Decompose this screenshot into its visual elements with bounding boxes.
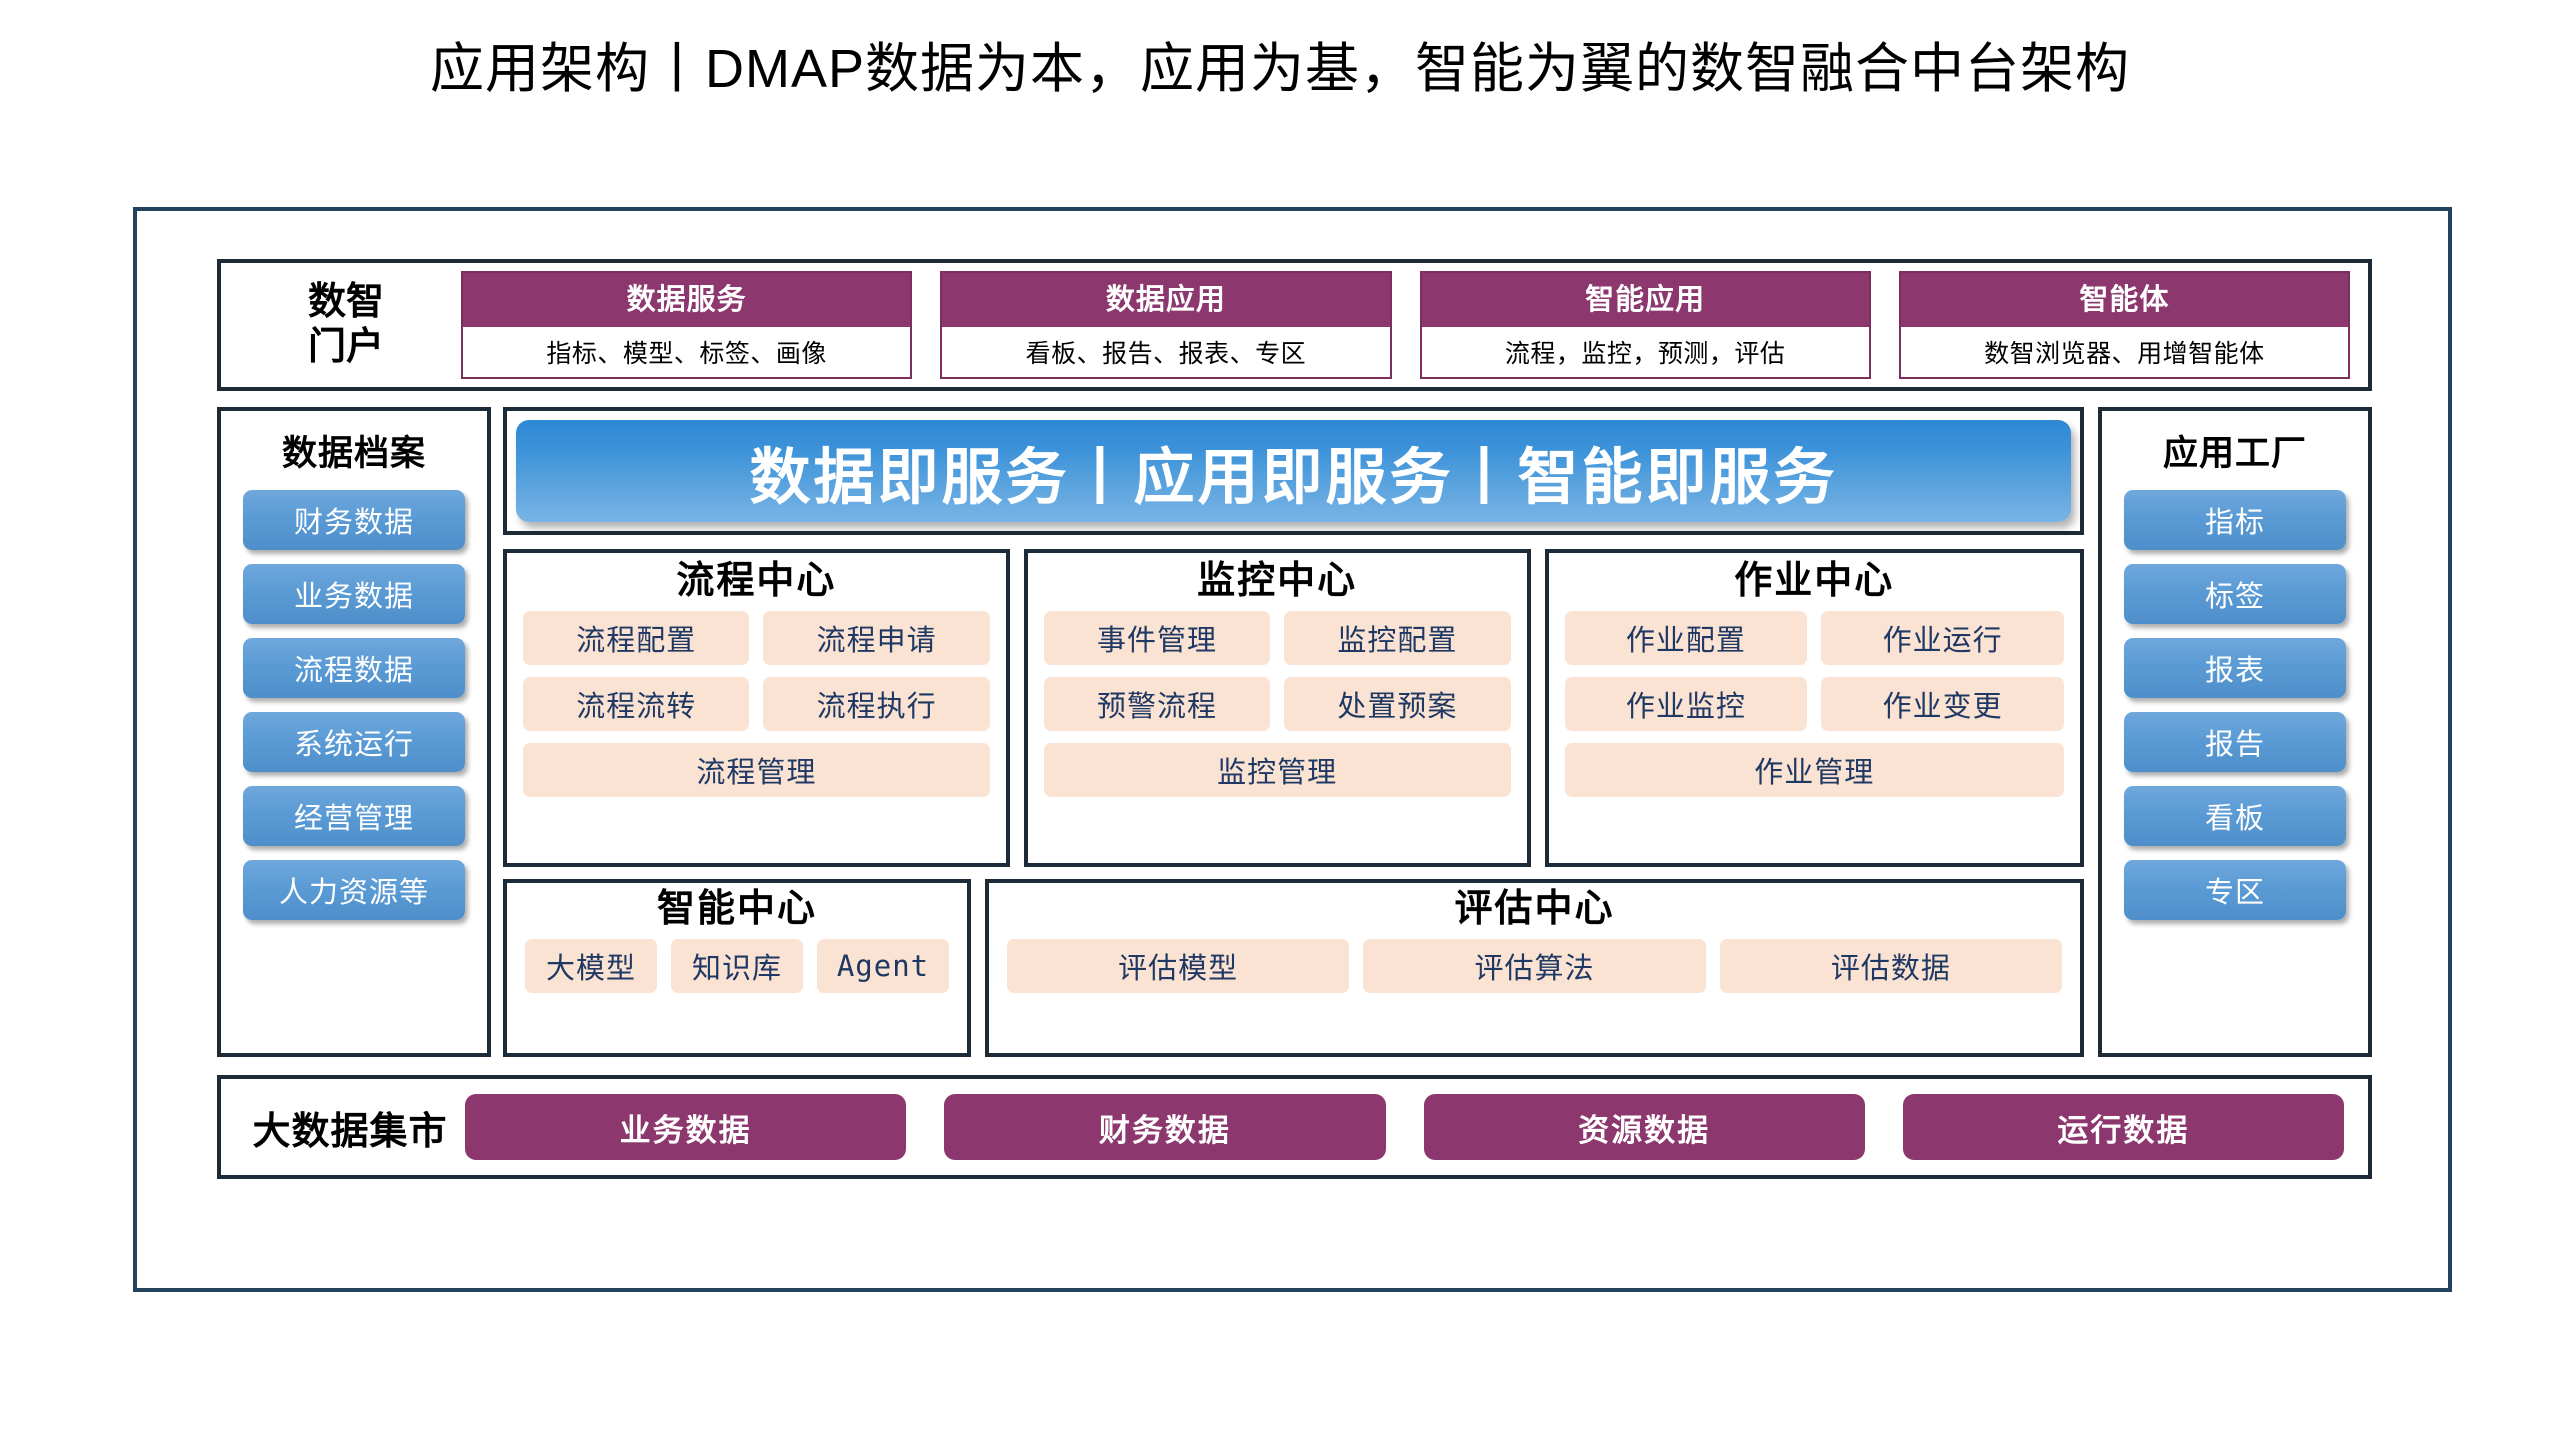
portal-row: 数智 门户 数据服务 指标、模型、标签、画像 数据应用 看板、报告、报表、专区 … — [217, 259, 2372, 391]
data-archive-item-hr[interactable]: 人力资源等 — [243, 860, 465, 920]
data-archive-item-process[interactable]: 流程数据 — [243, 638, 465, 698]
data-mart-label: 大数据集市 — [235, 1100, 465, 1155]
chip-row: 流程配置 流程申请 — [523, 611, 990, 665]
monitor-center-panel: 监控中心 事件管理 监控配置 预警流程 处置预案 监控管理 — [1024, 549, 1531, 867]
service-banner: 数据即服务丨应用即服务丨智能即服务 — [516, 420, 2071, 522]
portal-card-agent[interactable]: 智能体 数智浏览器、用增智能体 — [1899, 271, 2350, 379]
portal-card-title: 数据服务 — [463, 273, 910, 327]
data-mart-item-business[interactable]: 业务数据 — [465, 1094, 906, 1160]
app-factory-item-dashboard[interactable]: 看板 — [2124, 786, 2346, 846]
chip-row: 流程流转 流程执行 — [523, 677, 990, 731]
service-banner-container: 数据即服务丨应用即服务丨智能即服务 — [503, 407, 2084, 535]
portal-card-subtitle: 看板、报告、报表、专区 — [942, 327, 1389, 377]
chip-row: 流程管理 — [523, 743, 990, 797]
chip-job-run[interactable]: 作业运行 — [1821, 611, 2064, 665]
data-archive-item-system[interactable]: 系统运行 — [243, 712, 465, 772]
chip-row: 事件管理 监控配置 — [1044, 611, 1511, 665]
portal-card-subtitle: 数智浏览器、用增智能体 — [1901, 327, 2348, 377]
chip-process-flow[interactable]: 流程流转 — [523, 677, 749, 731]
chip-row: 作业管理 — [1565, 743, 2064, 797]
chip-process-management[interactable]: 流程管理 — [523, 743, 990, 797]
chip-job-management[interactable]: 作业管理 — [1565, 743, 2064, 797]
data-mart-row: 大数据集市 业务数据 财务数据 资源数据 运行数据 — [217, 1075, 2372, 1179]
bottom-panels-row: 智能中心 大模型 知识库 Agent 评估中心 评估模型 评估算法 评估数据 — [503, 879, 2084, 1057]
app-factory-item-zone[interactable]: 专区 — [2124, 860, 2346, 920]
data-mart-item-finance[interactable]: 财务数据 — [944, 1094, 1385, 1160]
app-factory-item-tag[interactable]: 标签 — [2124, 564, 2346, 624]
data-archive-item-business[interactable]: 业务数据 — [243, 564, 465, 624]
portal-card-title: 数据应用 — [942, 273, 1389, 327]
chip-alert-process[interactable]: 预警流程 — [1044, 677, 1270, 731]
portal-card-title: 智能应用 — [1422, 273, 1869, 327]
process-center-title: 流程中心 — [676, 561, 836, 603]
process-center-panel: 流程中心 流程配置 流程申请 流程流转 流程执行 流程管理 — [503, 549, 1010, 867]
evaluation-center-panel: 评估中心 评估模型 评估算法 评估数据 — [985, 879, 2084, 1057]
chip-eval-model[interactable]: 评估模型 — [1007, 939, 1349, 993]
chip-job-change[interactable]: 作业变更 — [1821, 677, 2064, 731]
monitor-center-items: 事件管理 监控配置 预警流程 处置预案 监控管理 — [1044, 611, 1511, 797]
architecture-diagram-frame: 数智 门户 数据服务 指标、模型、标签、画像 数据应用 看板、报告、报表、专区 … — [133, 207, 2452, 1292]
app-factory-item-indicator[interactable]: 指标 — [2124, 490, 2346, 550]
app-factory-title: 应用工厂 — [2102, 425, 2368, 476]
chip-response-plan[interactable]: 处置预案 — [1284, 677, 1510, 731]
chip-row: 作业配置 作业运行 — [1565, 611, 2064, 665]
chip-agent[interactable]: Agent — [817, 939, 949, 993]
portal-row-label: 数智 门户 — [231, 280, 461, 370]
portal-card-subtitle: 流程，监控，预测，评估 — [1422, 327, 1869, 377]
chip-eval-data[interactable]: 评估数据 — [1720, 939, 2062, 993]
app-factory-panel: 应用工厂 指标 标签 报表 报告 看板 专区 — [2098, 407, 2372, 1057]
page-title: 应用架构丨DMAP数据为本，应用为基，智能为翼的数智融合中台架构 — [0, 40, 2560, 99]
data-archive-list: 财务数据 业务数据 流程数据 系统运行 经营管理 人力资源等 — [221, 490, 487, 920]
data-archive-panel: 数据档案 财务数据 业务数据 流程数据 系统运行 经营管理 人力资源等 — [217, 407, 491, 1057]
chip-job-config[interactable]: 作业配置 — [1565, 611, 1808, 665]
process-center-items: 流程配置 流程申请 流程流转 流程执行 流程管理 — [523, 611, 990, 797]
chip-knowledge-base[interactable]: 知识库 — [671, 939, 803, 993]
evaluation-center-title: 评估中心 — [1454, 889, 1614, 931]
chip-monitor-management[interactable]: 监控管理 — [1044, 743, 1511, 797]
chip-monitor-config[interactable]: 监控配置 — [1284, 611, 1510, 665]
portal-card-intelligent-application[interactable]: 智能应用 流程，监控，预测，评估 — [1420, 271, 1871, 379]
chip-process-config[interactable]: 流程配置 — [523, 611, 749, 665]
ai-center-panel: 智能中心 大模型 知识库 Agent — [503, 879, 971, 1057]
evaluation-center-items: 评估模型 评估算法 评估数据 — [1007, 939, 2062, 993]
portal-card-title: 智能体 — [1901, 273, 2348, 327]
data-mart-list: 业务数据 财务数据 资源数据 运行数据 — [465, 1094, 2354, 1160]
chip-row: 监控管理 — [1044, 743, 1511, 797]
ai-center-items: 大模型 知识库 Agent — [525, 939, 949, 993]
app-factory-list: 指标 标签 报表 报告 看板 专区 — [2102, 490, 2368, 920]
portal-card-data-application[interactable]: 数据应用 看板、报告、报表、专区 — [940, 271, 1391, 379]
portal-card-subtitle: 指标、模型、标签、画像 — [463, 327, 910, 377]
data-archive-item-finance[interactable]: 财务数据 — [243, 490, 465, 550]
chip-process-execute[interactable]: 流程执行 — [763, 677, 989, 731]
data-mart-item-runtime[interactable]: 运行数据 — [1903, 1094, 2344, 1160]
job-center-items: 作业配置 作业运行 作业监控 作业变更 作业管理 — [1565, 611, 2064, 797]
data-archive-title: 数据档案 — [221, 425, 487, 476]
ai-center-title: 智能中心 — [657, 889, 817, 931]
data-mart-item-resource[interactable]: 资源数据 — [1424, 1094, 1865, 1160]
chip-event-management[interactable]: 事件管理 — [1044, 611, 1270, 665]
portal-label-line2: 门户 — [231, 325, 461, 370]
chip-eval-algorithm[interactable]: 评估算法 — [1363, 939, 1705, 993]
center-panels-row: 流程中心 流程配置 流程申请 流程流转 流程执行 流程管理 — [503, 549, 2084, 867]
chip-job-monitor[interactable]: 作业监控 — [1565, 677, 1808, 731]
app-factory-item-report[interactable]: 报告 — [2124, 712, 2346, 772]
portal-card-list: 数据服务 指标、模型、标签、画像 数据应用 看板、报告、报表、专区 智能应用 流… — [461, 271, 2358, 379]
chip-row: 作业监控 作业变更 — [1565, 677, 2064, 731]
data-archive-item-operations[interactable]: 经营管理 — [243, 786, 465, 846]
chip-large-model[interactable]: 大模型 — [525, 939, 657, 993]
job-center-title: 作业中心 — [1734, 561, 1894, 603]
portal-card-data-service[interactable]: 数据服务 指标、模型、标签、画像 — [461, 271, 912, 379]
chip-process-request[interactable]: 流程申请 — [763, 611, 989, 665]
center-column: 数据即服务丨应用即服务丨智能即服务 流程中心 流程配置 流程申请 流程流转 流程… — [503, 407, 2084, 1057]
job-center-panel: 作业中心 作业配置 作业运行 作业监控 作业变更 作业管理 — [1545, 549, 2084, 867]
portal-label-line1: 数智 — [231, 280, 461, 325]
monitor-center-title: 监控中心 — [1197, 561, 1357, 603]
chip-row: 预警流程 处置预案 — [1044, 677, 1511, 731]
app-factory-item-report-table[interactable]: 报表 — [2124, 638, 2346, 698]
